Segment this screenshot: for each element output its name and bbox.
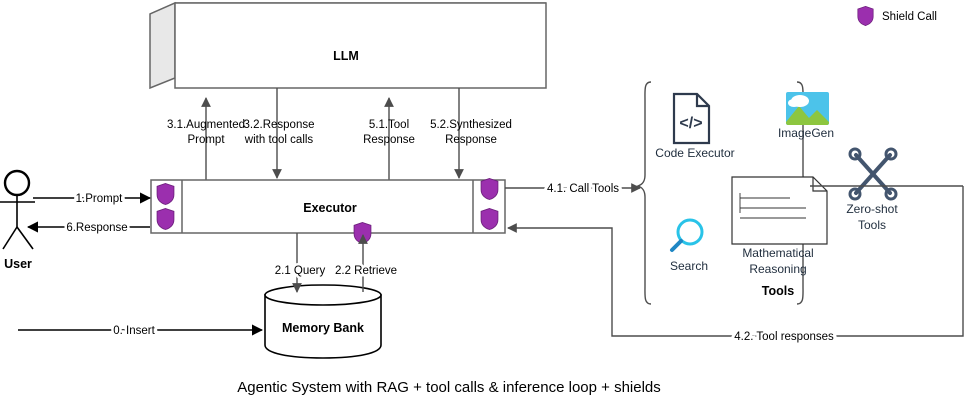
- tool-label-zero-shot-line1: Zero-shot: [846, 202, 898, 216]
- edge-response-tool-calls-label-1: 3.2.Response: [244, 119, 315, 131]
- memory-bank-label: Memory Bank: [282, 321, 364, 335]
- tool-label-imagegen: ImageGen: [778, 126, 834, 140]
- user-executor-edges: 1.Prompt 6.Response: [28, 193, 150, 234]
- memory-bank-node[interactable]: Memory Bank: [265, 285, 381, 358]
- user-head: [5, 171, 29, 195]
- edge-query-label: 2.1 Query: [275, 265, 326, 277]
- edge-tool-response-label-2: Response: [363, 134, 415, 146]
- user-label: User: [4, 257, 32, 271]
- user-node[interactable]: User: [0, 171, 35, 271]
- legend: Shield Call: [858, 6, 937, 25]
- magnifier-handle: [672, 241, 681, 250]
- user-leg-left: [3, 227, 17, 249]
- edge-response-tool-calls-label-2: with tool calls: [244, 134, 314, 146]
- tool-mathematical-reasoning[interactable]: Mathematical Reasoning: [732, 177, 827, 276]
- shield-icon-executor-in-prompt[interactable]: [157, 183, 174, 204]
- shield-icon-executor-tool-response[interactable]: [481, 208, 498, 229]
- agentic-system-diagram: LLM 3.1.Augmented Prompt 3.2.Response wi…: [0, 0, 970, 411]
- edge-call-tools-label: 4.1. Call Tools: [547, 183, 619, 195]
- edge-synthesized-response-label-1: 5.2.Synthesized: [430, 119, 512, 131]
- executor-label: Executor: [303, 201, 357, 215]
- tool-code-executor[interactable]: </> Code Executor: [655, 94, 734, 160]
- tool-label-math-line1: Mathematical: [742, 246, 813, 260]
- tools-left-brace: [638, 82, 651, 304]
- image-cloud-left: [788, 99, 800, 107]
- llm-front-face: [175, 3, 546, 88]
- llm-side-face: [150, 3, 175, 88]
- edge-augmented-prompt-label-1: 3.1.Augmented: [167, 119, 245, 131]
- tool-label-math-line2: Reasoning: [749, 262, 806, 276]
- edge-synthesized-response-label-2: Response: [445, 134, 497, 146]
- tool-label-code-executor: Code Executor: [655, 146, 734, 160]
- shield-icon-executor-tool-call[interactable]: [481, 178, 498, 199]
- tools-group-label: Tools: [762, 284, 794, 298]
- code-glyph: </>: [679, 115, 702, 132]
- legend-label: Shield Call: [882, 11, 937, 23]
- edge-augmented-prompt-label-2: Prompt: [187, 134, 225, 146]
- edge-insert-label: 0. Insert: [113, 325, 155, 337]
- executor-node[interactable]: Executor: [151, 178, 505, 243]
- edge-tool-response-label-1: 5.1.Tool: [369, 119, 409, 131]
- user-leg-right: [17, 227, 33, 249]
- tool-zero-shot[interactable]: Zero-shot Tools: [846, 149, 898, 232]
- edge-retrieve-label: 2.2 Retrieve: [335, 265, 397, 277]
- tool-label-zero-shot-line2: Tools: [858, 218, 886, 232]
- shield-icon-executor-out-response[interactable]: [157, 208, 174, 229]
- tool-imagegen[interactable]: ImageGen: [778, 92, 834, 140]
- tool-label-search: Search: [670, 259, 708, 273]
- edge-tool-responses-label: 4.2. Tool responses: [734, 331, 834, 343]
- llm-executor-edges: 3.1.Augmented Prompt 3.2.Response with t…: [167, 88, 512, 180]
- edge-response-label: 6.Response: [66, 222, 127, 234]
- edge-prompt-label: 1.Prompt: [76, 193, 123, 205]
- tool-search[interactable]: Search: [670, 220, 708, 273]
- llm-label: LLM: [333, 49, 359, 63]
- llm-node[interactable]: LLM: [150, 3, 546, 88]
- diagram-caption: Agentic System with RAG + tool calls & i…: [237, 379, 661, 396]
- shield-icon-legend: [858, 6, 873, 25]
- crossed-wrenches-icon: [856, 155, 890, 193]
